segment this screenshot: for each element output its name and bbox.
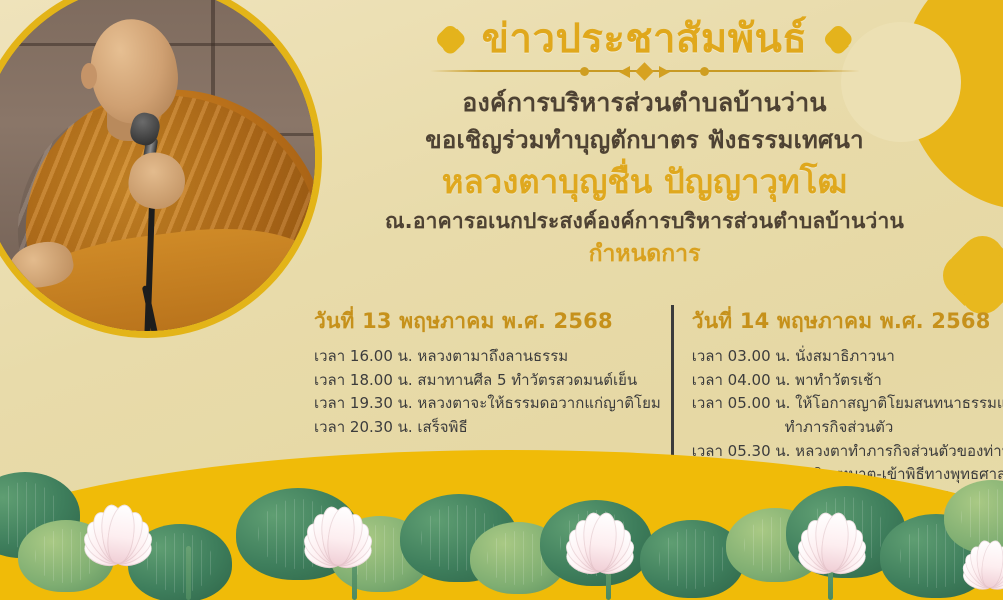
flourish-dot-left xyxy=(580,67,589,76)
organization-name: องค์การบริหารส่วนตำบลบ้านว่าน xyxy=(300,84,989,122)
agenda-label: กำหนดการ xyxy=(300,237,989,272)
invitation-line: ขอเชิญร่วมทำบุญตักบาตร ฟังธรรมเทศนา xyxy=(300,122,989,158)
quatrefoil-icon-left xyxy=(438,27,464,53)
lotus-decoration-layer xyxy=(0,450,1003,600)
schedule-item: เวลา 18.00 น. สมาทานศีล 5 ทำวัตรสวดมนต์เ… xyxy=(314,369,661,393)
monk-photo-inner xyxy=(0,0,315,331)
monk-ear xyxy=(81,63,97,89)
schedule-item: เวลา 16.00 น. หลวงตามาถึงลานธรรม xyxy=(314,345,661,369)
header-text-block: ข่าวประชาสัมพันธ์ องค์การบริหารส่วนตำบลบ… xyxy=(300,16,989,272)
lotus-stem xyxy=(186,546,191,600)
monk-photo xyxy=(0,0,322,338)
schedule-item: เวลา 19.30 น. หลวงตาจะให้ธรรมดอวากแก่ญาต… xyxy=(314,392,661,416)
schedule-item-text: เวลา 05.00 น. ให้โอกาสญาติโยมสนทนาธรรมแล… xyxy=(692,394,1003,412)
schedule-item-continuation: ทำภารกิจส่วนตัว xyxy=(692,416,1003,440)
page-title: ข่าวประชาสัมพันธ์ xyxy=(482,16,808,63)
lotus-icon xyxy=(278,478,398,574)
flourish-gem xyxy=(635,62,653,80)
flourish-tip-left xyxy=(619,66,630,78)
title-row: ข่าวประชาสัมพันธ์ xyxy=(300,16,989,63)
schedule-item: เวลา 05.00 น. ให้โอกาสญาติโยมสนทนาธรรมแล… xyxy=(692,392,1003,439)
lotus-icon xyxy=(942,518,1003,595)
venue-line: ณ.อาคารอเนกประสงค์องค์การบริหารส่วนตำบลบ… xyxy=(300,206,989,238)
lotus-icon xyxy=(540,484,660,580)
schedule-item: เวลา 20.30 น. เสร็จพิธี xyxy=(314,416,661,440)
announcement-poster: ข่าวประชาสัมพันธ์ องค์การบริหารส่วนตำบลบ… xyxy=(0,0,1003,600)
flourish-dot-right xyxy=(700,67,709,76)
lotus-icon xyxy=(772,484,892,580)
monk-name: หลวงตาบุญชื่น ปัญญาวุทโฒ xyxy=(300,158,989,206)
schedule-date-day1: วันที่ 13 พฤษภาคม พ.ศ. 2568 xyxy=(314,305,661,338)
schedule-date-day2: วันที่ 14 พฤษภาคม พ.ศ. 2568 xyxy=(692,305,1003,338)
lotus-icon xyxy=(58,476,178,572)
flourish-tip-right xyxy=(659,66,670,78)
schedule-item: เวลา 03.00 น. นั่งสมาธิภาวนา xyxy=(692,345,1003,369)
quatrefoil-icon-right xyxy=(825,27,851,53)
title-underline-flourish xyxy=(430,64,860,78)
schedule-item: เวลา 04.00 น. พาทำวัตรเช้า xyxy=(692,369,1003,393)
